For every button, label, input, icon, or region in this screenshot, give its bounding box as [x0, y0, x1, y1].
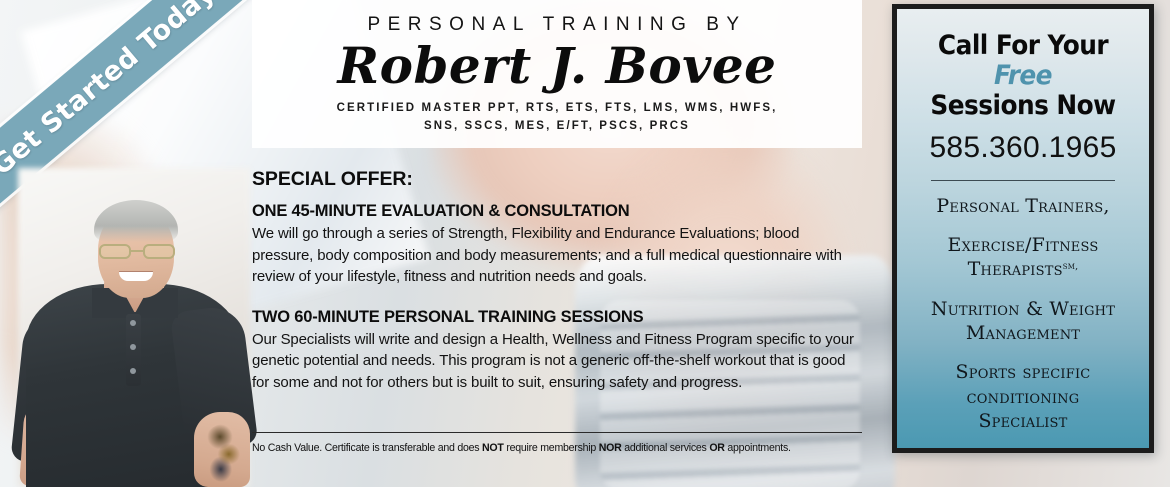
fineprint-bold-not: NOT — [482, 442, 504, 454]
service-item: Personal Trainers, — [907, 194, 1139, 218]
photo-lens-right — [143, 244, 175, 259]
offer-item: TWO 60-MINUTE PERSONAL TRAINING SESSIONS… — [252, 308, 862, 394]
offer-item: ONE 45-MINUTE EVALUATION & CONSULTATION … — [252, 202, 862, 288]
services-list: Personal Trainers, Exercise/Fitness Ther… — [907, 194, 1139, 434]
fineprint-text: No Cash Value. Certificate is transferab… — [252, 442, 862, 454]
header-card: PERSONAL TRAINING BY Robert J. Bovee CER… — [252, 0, 862, 148]
certifications-line-1: CERTIFIED MASTER PPT, RTS, ETS, FTS, LMS… — [252, 100, 862, 118]
service-item: Exercise/Fitness Therapistssm, — [907, 233, 1139, 282]
photo-glasses-bridge — [131, 250, 143, 252]
cta-headline-prefix: Call For Your — [938, 30, 1108, 61]
fineprint-part-4: appointments. — [725, 442, 791, 454]
service-item: Nutrition & Weight Management — [907, 297, 1139, 346]
photo-polo-button — [130, 368, 136, 374]
service-line: Sports specific — [956, 361, 1091, 383]
service-line: Nutrition & Weight — [931, 298, 1115, 320]
offer-item-title: TWO 60-MINUTE PERSONAL TRAINING SESSIONS — [252, 308, 862, 327]
service-line: Therapists — [968, 258, 1063, 280]
certifications: CERTIFIED MASTER PPT, RTS, ETS, FTS, LMS… — [252, 100, 862, 136]
service-mark-sm: sm, — [1063, 261, 1079, 272]
service-line: conditioning — [967, 386, 1080, 408]
fineprint-part-2: require membership — [504, 442, 599, 454]
fineprint-part-1: No Cash Value. Certificate is transferab… — [252, 442, 482, 454]
service-line: Specialist — [978, 410, 1067, 432]
photo-polo-button — [130, 344, 136, 350]
fineprint-bold-or: OR — [709, 442, 724, 454]
header-eyebrow: PERSONAL TRAINING BY — [252, 14, 862, 36]
cta-headline: Call For Your Free Sessions Now — [907, 31, 1139, 122]
phone-number[interactable]: 585.360.1965 — [929, 131, 1116, 165]
special-offer-heading: SPECIAL OFFER: — [252, 168, 862, 191]
service-line: Management — [966, 322, 1080, 344]
offer-item-title: ONE 45-MINUTE EVALUATION & CONSULTATION — [252, 202, 862, 221]
photo-arm-tattoo — [204, 424, 244, 482]
promotional-banner: Get Started Today! PERSONAL TRAINING BY … — [0, 0, 1170, 487]
fineprint-section: No Cash Value. Certificate is transferab… — [252, 432, 862, 454]
photo-lens-left — [99, 244, 131, 259]
offer-item-body: Our Specialists will write and design a … — [252, 329, 862, 394]
offer-copy: SPECIAL OFFER: ONE 45-MINUTE EVALUATION … — [252, 168, 862, 394]
offer-spacer — [252, 288, 862, 308]
service-item: Sports specific conditioning Specialist — [907, 360, 1139, 433]
offer-item-body: We will go through a series of Strength,… — [252, 223, 862, 288]
cta-sidebar: Call For Your Free Sessions Now 585.360.… — [892, 4, 1154, 453]
eyeglasses-icon — [98, 244, 176, 259]
trainer-name: Robert J. Bovee — [252, 38, 862, 94]
trainer-photo — [18, 168, 250, 487]
certifications-line-2: SNS, SSCS, MES, E/FT, PSCS, PRCS — [252, 118, 862, 136]
cta-headline-free: Free — [994, 60, 1052, 91]
fineprint-part-3: additional services — [622, 442, 710, 454]
cta-headline-line2: Sessions Now — [930, 90, 1115, 121]
fineprint-bold-nor: NOR — [599, 442, 622, 454]
sidebar-divider — [931, 180, 1115, 181]
service-line: Exercise/Fitness — [948, 234, 1099, 256]
photo-polo-button — [130, 320, 136, 326]
fineprint-divider — [252, 432, 862, 433]
photo-smile — [119, 272, 153, 281]
